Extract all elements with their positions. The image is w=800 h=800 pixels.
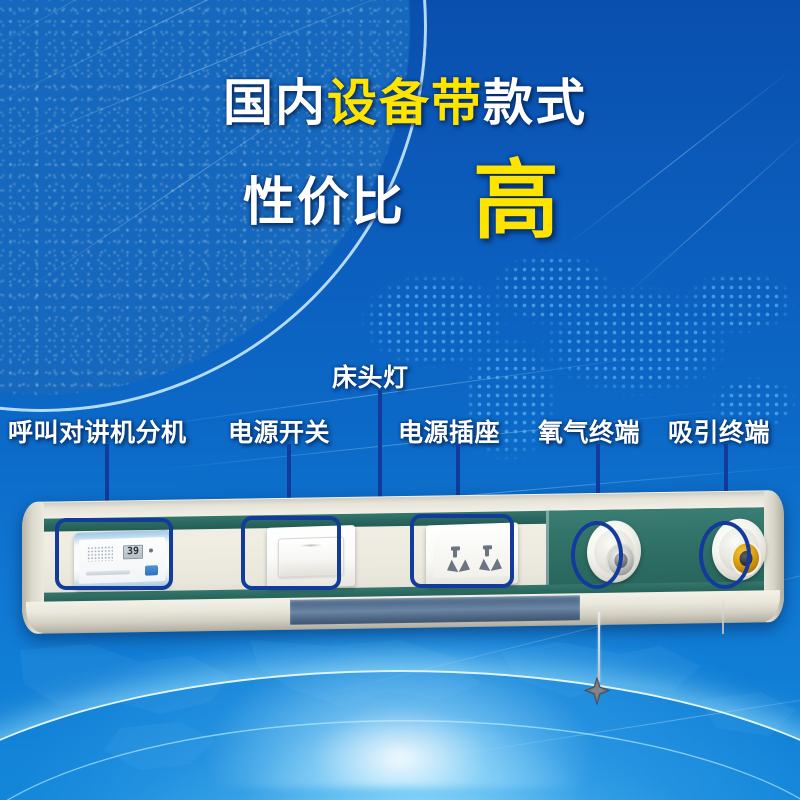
suction-hose-cord [722, 600, 724, 634]
bed-lamp-diffuser[interactable] [290, 595, 580, 625]
pull-cord[interactable] [598, 612, 600, 682]
callout-labels: 呼叫对讲机分机 电源开关 床头灯 电源插座 氧气终端 吸引终端 [0, 0, 800, 800]
callout-label-bedlamp: 床头灯 [332, 358, 409, 394]
pull-cord-handle-icon[interactable] [582, 676, 612, 706]
highlight-box-socket [410, 514, 514, 588]
callout-label-suction: 吸引终端 [668, 413, 770, 449]
highlight-box-oxygen [571, 521, 623, 589]
highlight-box-suction [699, 521, 751, 589]
highlight-box-switch [241, 516, 341, 590]
callout-label-intercom: 呼叫对讲机分机 [8, 413, 187, 449]
callout-label-socket: 电源插座 [398, 413, 500, 449]
callout-label-switch: 电源开关 [228, 413, 330, 449]
callout-label-oxygen: 氧气终端 [538, 413, 640, 449]
highlight-box-intercom [55, 518, 173, 590]
